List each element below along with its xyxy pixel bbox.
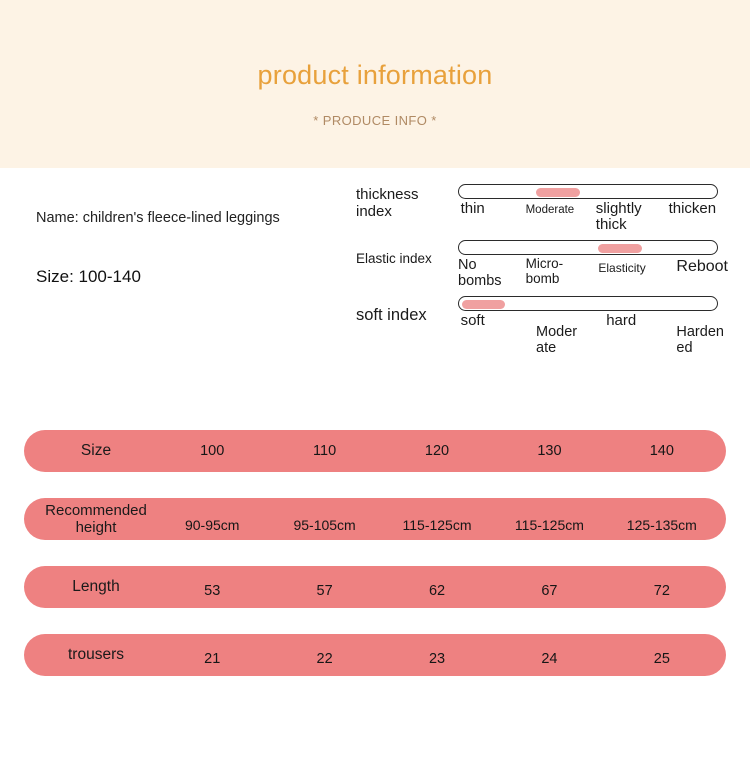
table-row-header: Size — [24, 442, 168, 459]
elastic-scale-label: Micro-bomb — [526, 257, 576, 286]
thickness-scale-label: slightly thick — [596, 201, 654, 233]
table-row-header: trousers — [24, 646, 168, 663]
table-cell: 90-95cm — [156, 498, 268, 540]
soft-scale-label: Hardened — [676, 325, 728, 356]
table-row: Size100110120130140 — [24, 430, 726, 472]
table-row-cells: 5357626772 — [156, 566, 718, 608]
table-cell: 25 — [606, 634, 718, 676]
thickness-index-label: thickness index — [356, 186, 454, 221]
table-cell: 57 — [268, 566, 380, 608]
thickness-scale-label: thicken — [669, 201, 731, 217]
soft-index-scale: softModeratehardHardened — [458, 313, 718, 359]
product-name: Name: children's fleece-lined leggings — [36, 210, 336, 227]
thickness-scale-label: Moderate — [526, 204, 588, 216]
elastic-scale-label: No bombs — [458, 258, 510, 289]
soft-scale-label: soft — [461, 313, 505, 329]
table-cell: 95-105cm — [268, 498, 380, 540]
soft-index-track[interactable] — [458, 296, 718, 311]
table-cell: 21 — [156, 634, 268, 676]
table-row-header: Length — [24, 578, 168, 595]
size-table: Size100110120130140Recommended height90-… — [0, 430, 750, 676]
table-row-cells: 100110120130140 — [156, 430, 718, 472]
spec-section: Name: children's fleece-lined leggings S… — [0, 168, 750, 426]
elastic-scale-label: Reboot — [676, 258, 740, 275]
soft-index-label: soft index — [356, 306, 454, 325]
table-cell: 100 — [156, 430, 268, 472]
table-cell: 115-125cm — [381, 498, 493, 540]
table-cell: 22 — [268, 634, 380, 676]
table-row-cells: 2122232425 — [156, 634, 718, 676]
table-row-header: Recommended height — [24, 503, 168, 537]
table-cell: 125-135cm — [606, 498, 718, 540]
table-cell: 72 — [606, 566, 718, 608]
table-cell: 67 — [493, 566, 605, 608]
elastic-scale-label: Elasticity — [598, 262, 660, 275]
elastic-index-slider[interactable]: No bombsMicro-bombElasticityReboot — [458, 240, 718, 303]
soft-index-slider[interactable]: softModeratehardHardened — [458, 296, 718, 359]
soft-scale-label: Moderate — [536, 325, 580, 356]
thickness-index-track[interactable] — [458, 184, 718, 199]
table-cell: 23 — [381, 634, 493, 676]
table-row-cells: 90-95cm95-105cm115-125cm115-125cm125-135… — [156, 498, 718, 540]
table-cell: 53 — [156, 566, 268, 608]
elastic-index-fill — [598, 244, 642, 253]
soft-index-fill — [462, 300, 506, 309]
table-cell: 120 — [381, 430, 493, 472]
product-basic-info: Name: children's fleece-lined leggings S… — [36, 210, 336, 288]
header-banner: product information * PRODUCE INFO * — [0, 0, 750, 168]
table-cell: 140 — [606, 430, 718, 472]
table-cell: 110 — [268, 430, 380, 472]
table-cell: 62 — [381, 566, 493, 608]
soft-scale-label: hard — [606, 313, 652, 329]
table-cell: 130 — [493, 430, 605, 472]
thickness-index-fill — [536, 188, 580, 197]
table-row: Length5357626772 — [24, 566, 726, 608]
table-row: trousers2122232425 — [24, 634, 726, 676]
elastic-index-label: Elastic index — [356, 251, 454, 267]
elastic-index-track[interactable] — [458, 240, 718, 255]
thickness-scale-label: thin — [461, 201, 513, 217]
table-cell: 24 — [493, 634, 605, 676]
page-title: product information — [0, 62, 750, 89]
product-size-range: Size: 100-140 — [36, 267, 336, 287]
table-row: Recommended height90-95cm95-105cm115-125… — [24, 498, 726, 540]
thickness-index-slider[interactable]: thinModerateslightly thickthicken — [458, 184, 718, 247]
table-cell: 115-125cm — [493, 498, 605, 540]
page-subtitle: * PRODUCE INFO * — [0, 114, 750, 127]
